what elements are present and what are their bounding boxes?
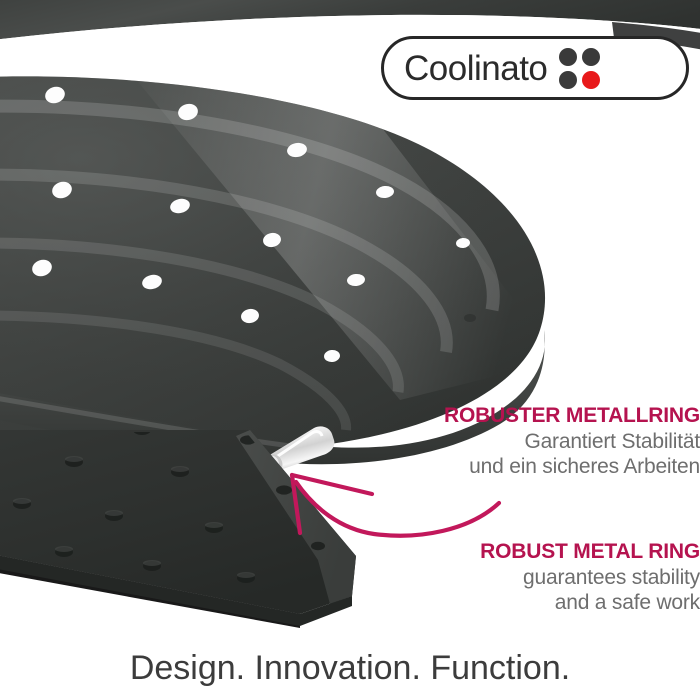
callout-german-title: ROBUSTER METALLRING: [280, 403, 700, 429]
logo-dot-accent: [582, 71, 600, 89]
callout-german-line-2: und ein sicheres Arbeiten: [280, 454, 700, 480]
callout-english-title: ROBUST METAL RING: [280, 539, 700, 565]
logo-dot-grid: [559, 48, 600, 89]
callout-english-line-1: guarantees stability: [280, 565, 700, 591]
product-marketing-image: Coolinato ROBUSTER METALLRING Garantiert…: [0, 0, 700, 700]
brand-name: Coolinato: [404, 51, 547, 86]
callout-english: ROBUST METAL RING guarantees stability a…: [280, 539, 700, 616]
tagline: Design. Innovation. Function.: [0, 649, 700, 688]
logo-dot-2: [582, 48, 600, 66]
callout-german: ROBUSTER METALLRING Garantiert Stabilitä…: [280, 403, 700, 480]
brand-logo: Coolinato: [381, 36, 689, 100]
logo-dot-3: [559, 71, 577, 89]
callout-english-line-2: and a safe work: [280, 590, 700, 616]
logo-dot-1: [559, 48, 577, 66]
callout-german-line-1: Garantiert Stabilität: [280, 429, 700, 455]
